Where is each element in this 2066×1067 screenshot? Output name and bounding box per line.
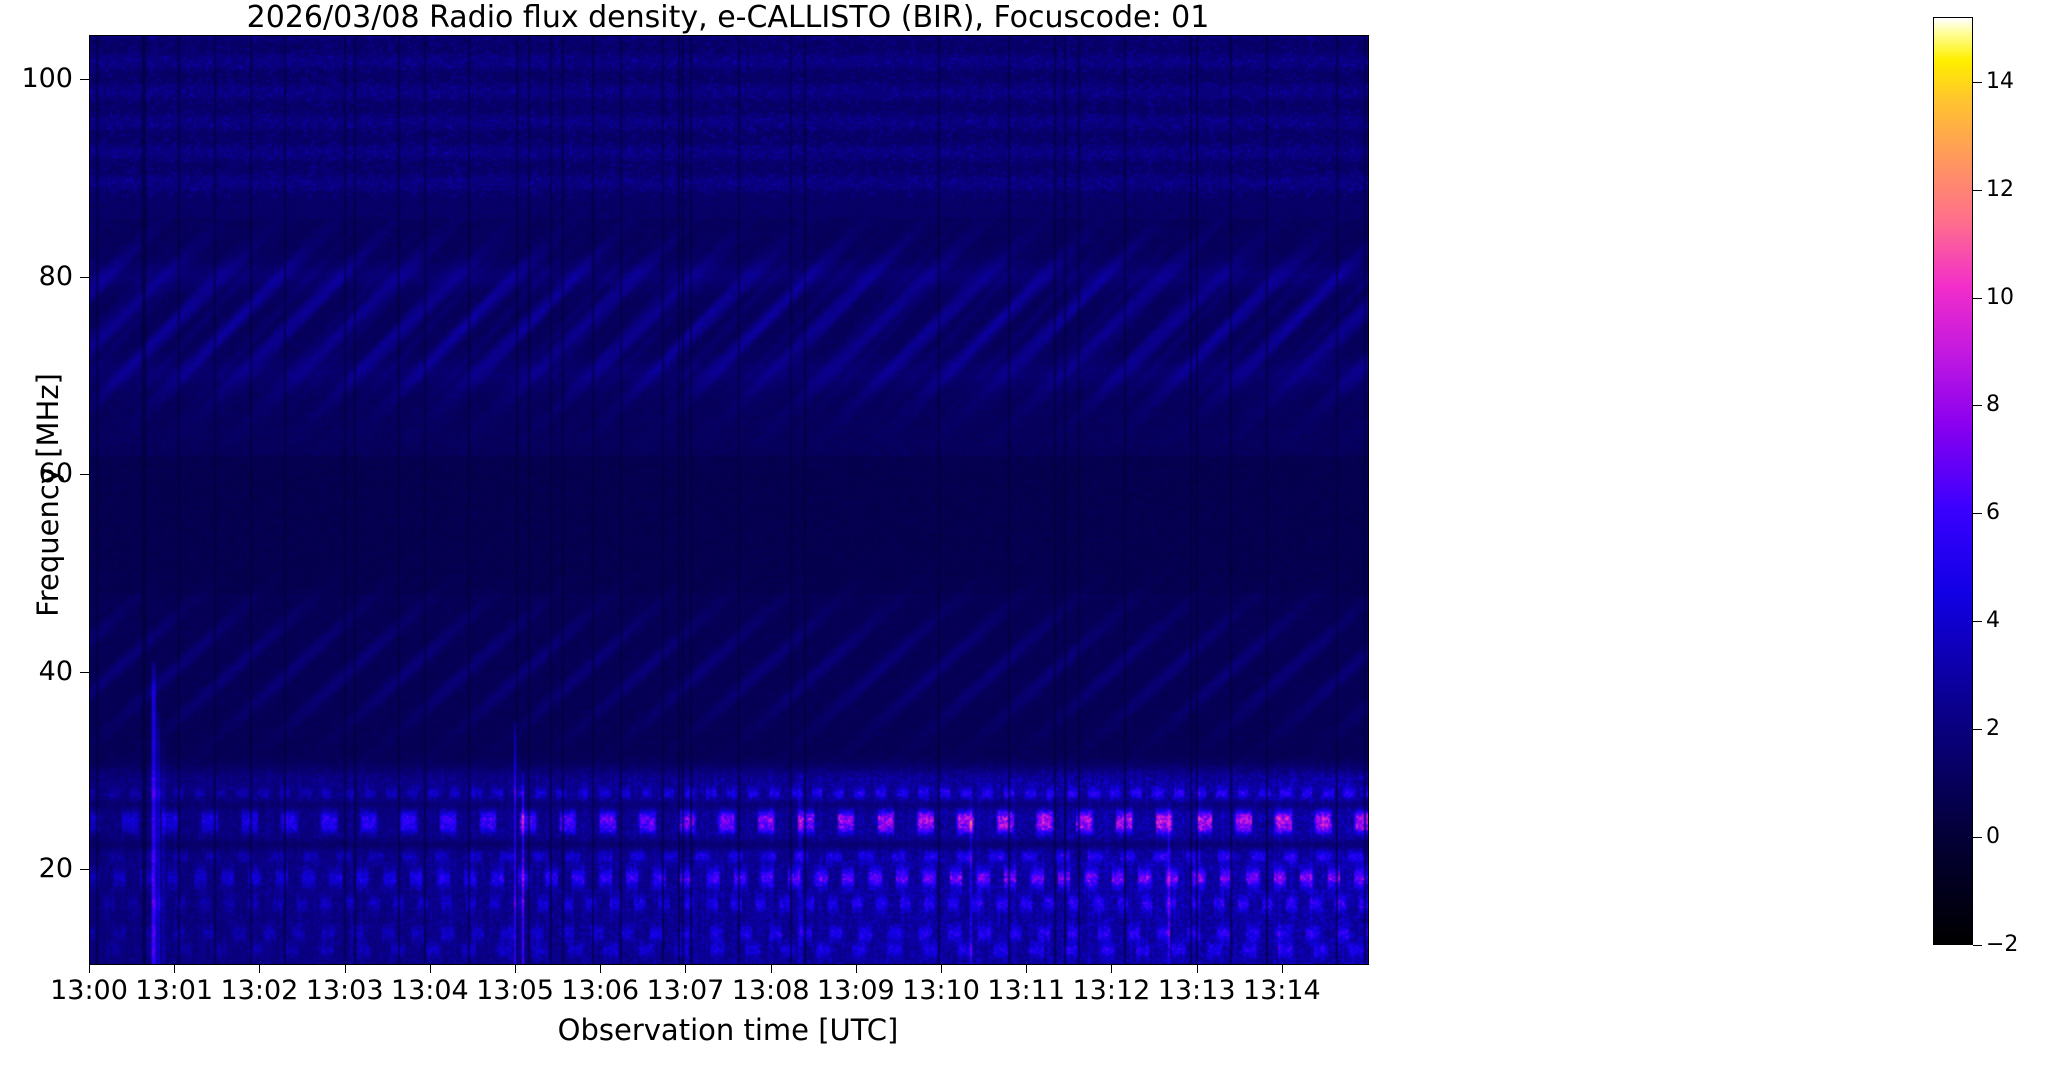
x-tick-mark bbox=[856, 964, 857, 973]
x-tick-label: 13:02 bbox=[179, 977, 339, 1004]
x-tick-label: 13:05 bbox=[435, 977, 595, 1004]
x-tick-label: 13:12 bbox=[1031, 977, 1191, 1004]
x-tick-label: 13:13 bbox=[1117, 977, 1277, 1004]
x-tick-mark bbox=[600, 964, 601, 973]
colorbar-tick-label: 10 bbox=[1986, 287, 2014, 309]
x-tick-mark bbox=[1026, 964, 1027, 973]
y-tick-mark bbox=[80, 79, 89, 80]
colorbar-tick-mark bbox=[1973, 621, 1982, 622]
colorbar-tick-mark bbox=[1973, 298, 1982, 299]
colorbar-tick-mark bbox=[1973, 513, 1982, 514]
x-tick-mark bbox=[174, 964, 175, 973]
y-tick-mark bbox=[80, 869, 89, 870]
spectrogram-plot-area[interactable] bbox=[89, 35, 1369, 965]
x-axis-label: Observation time [UTC] bbox=[89, 1013, 1367, 1047]
x-tick-label: 13:04 bbox=[350, 977, 510, 1004]
colorbar-tick-mark bbox=[1973, 729, 1982, 730]
x-tick-label: 13:09 bbox=[776, 977, 936, 1004]
y-tick-mark bbox=[80, 672, 89, 673]
y-tick-mark bbox=[80, 277, 89, 278]
colorbar-tick-mark bbox=[1973, 837, 1982, 838]
colorbar[interactable] bbox=[1933, 17, 1973, 945]
spectrogram-image bbox=[90, 36, 1368, 964]
x-tick-mark bbox=[430, 964, 431, 973]
y-tick-mark bbox=[80, 474, 89, 475]
x-tick-label: 13:06 bbox=[520, 977, 680, 1004]
x-tick-mark bbox=[685, 964, 686, 973]
colorbar-tick-label: 0 bbox=[1986, 826, 2000, 848]
colorbar-tick-label: 14 bbox=[1986, 71, 2014, 93]
x-tick-mark bbox=[1282, 964, 1283, 973]
x-tick-label: 13:08 bbox=[691, 977, 851, 1004]
x-tick-label: 13:11 bbox=[946, 977, 1106, 1004]
x-tick-mark bbox=[89, 964, 90, 973]
x-tick-mark bbox=[941, 964, 942, 973]
colorbar-tick-mark bbox=[1973, 82, 1982, 83]
y-axis-label: Frequency [MHz] bbox=[31, 45, 65, 945]
colorbar-tick-mark bbox=[1973, 190, 1982, 191]
x-tick-mark bbox=[345, 964, 346, 973]
x-tick-mark bbox=[1197, 964, 1198, 973]
x-tick-mark bbox=[515, 964, 516, 973]
x-tick-label: 13:01 bbox=[94, 977, 254, 1004]
colorbar-tick-mark bbox=[1973, 405, 1982, 406]
x-tick-mark bbox=[1111, 964, 1112, 973]
colorbar-tick-label: −2 bbox=[1986, 934, 2018, 956]
x-tick-label: 13:07 bbox=[605, 977, 765, 1004]
x-tick-label: 13:10 bbox=[861, 977, 1021, 1004]
colorbar-tick-label: 4 bbox=[1986, 610, 2000, 632]
x-tick-label: 13:03 bbox=[265, 977, 425, 1004]
page-title: 2026/03/08 Radio flux density, e-CALLIST… bbox=[89, 2, 1367, 34]
colorbar-tick-label: 6 bbox=[1986, 502, 2000, 524]
x-tick-mark bbox=[259, 964, 260, 973]
colorbar-tick-label: 2 bbox=[1986, 718, 2000, 740]
colorbar-tick-label: 8 bbox=[1986, 394, 2000, 416]
x-tick-label: 13:00 bbox=[9, 977, 169, 1004]
spectrogram-figure: 2026/03/08 Radio flux density, e-CALLIST… bbox=[0, 0, 2066, 1067]
colorbar-tick-mark bbox=[1973, 945, 1982, 946]
x-tick-label: 13:14 bbox=[1202, 977, 1362, 1004]
colorbar-tick-label: 12 bbox=[1986, 179, 2014, 201]
x-tick-mark bbox=[771, 964, 772, 973]
colorbar-gradient bbox=[1934, 18, 1972, 944]
